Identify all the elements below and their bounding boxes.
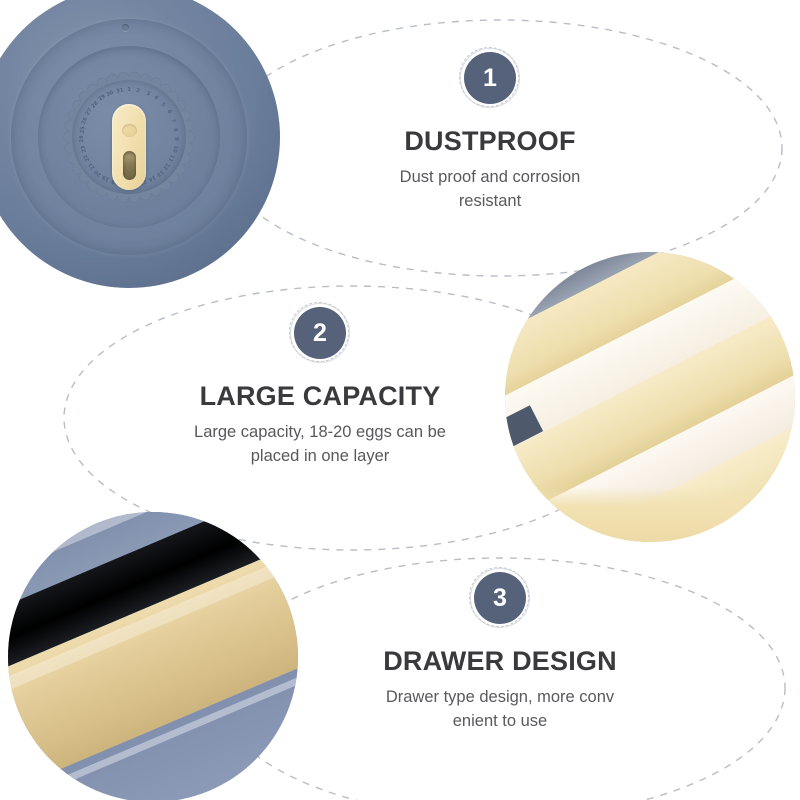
large-capacity-tray-photo	[505, 252, 795, 542]
dial-slider-knob	[112, 104, 146, 190]
feature-description-1: Dust proof and corrosion resistant	[340, 166, 640, 214]
feature-badge-2: 2	[294, 307, 346, 359]
feature-description-2-line-2: placed in one layer	[150, 445, 490, 469]
knob-slot	[123, 151, 136, 180]
feature-block-1: 1 DUSTPROOF Dust proof and corrosion res…	[340, 52, 640, 214]
feature-badge-1: 1	[464, 52, 516, 104]
drawer-band-stack	[8, 512, 298, 800]
knob-dimple	[122, 124, 137, 137]
feature-block-3: 3 DRAWER DESIGN Drawer type design, more…	[340, 572, 660, 734]
feature-title-1: DUSTPROOF	[340, 126, 640, 157]
feature-description-1-line-1: Dust proof and corrosion	[340, 166, 640, 190]
feature-title-3: DRAWER DESIGN	[340, 646, 660, 677]
feature-description-2-line-1: Large capacity, 18-20 eggs can be	[150, 421, 490, 445]
feature-badge-3: 3	[474, 572, 526, 624]
infographic-canvas: 1234567891011121314151617181920212223242…	[0, 0, 800, 800]
feature-description-1-line-2: resistant	[340, 190, 640, 214]
feature-description-3-line-2: enient to use	[340, 710, 660, 734]
feature-block-2: 2 LARGE CAPACITY Large capacity, 18-20 e…	[150, 307, 490, 469]
feature-description-3-line-1: Drawer type design, more conv	[340, 686, 660, 710]
dustproof-lid-photo: 1234567891011121314151617181920212223242…	[0, 0, 280, 288]
drawer-design-photo	[8, 512, 298, 800]
tray-front-rim	[505, 487, 795, 542]
feature-description-3: Drawer type design, more conv enient to …	[340, 686, 660, 734]
feature-title-2: LARGE CAPACITY	[150, 381, 490, 412]
feature-description-2: Large capacity, 18-20 eggs can be placed…	[150, 421, 490, 469]
